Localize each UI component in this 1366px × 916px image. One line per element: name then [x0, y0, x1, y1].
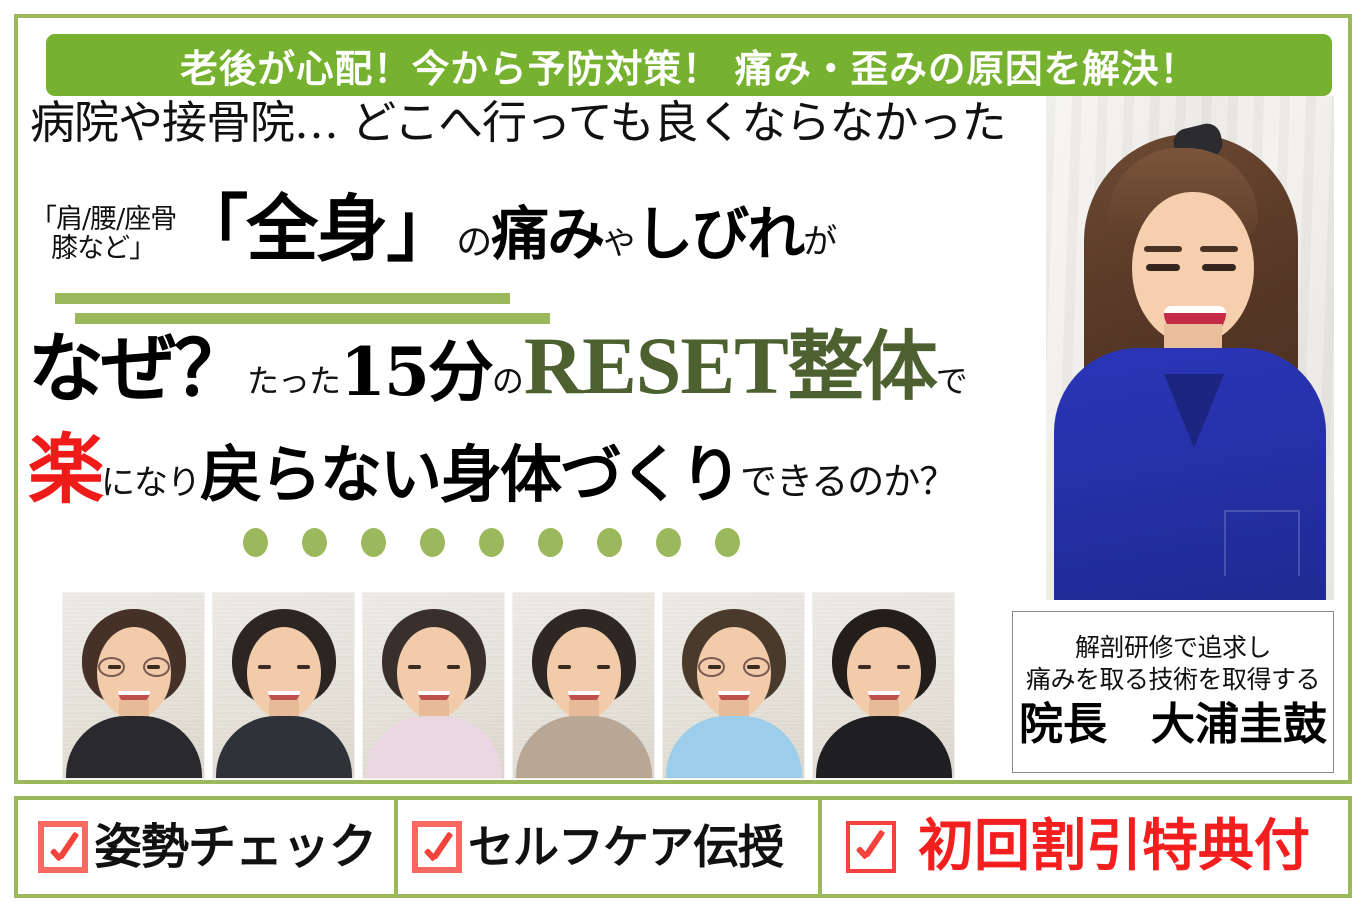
particle-ga: が: [803, 225, 837, 267]
benefit-label: 姿勢チェック: [94, 823, 376, 871]
director-credential-line-2: 痛みを取る技術を取得する: [1026, 664, 1320, 696]
tatta-text: たった: [247, 365, 340, 407]
benefits-checkbox-row: 姿勢チェック セルフケア伝授 初回割引特典付: [14, 796, 1352, 898]
dot-icon: [302, 528, 327, 557]
checkbox-checked-icon[interactable]: [412, 821, 462, 873]
patient-photo: [512, 592, 655, 779]
benefit-item-first-visit-discount[interactable]: 初回割引特典付: [822, 800, 1348, 894]
dot-icon: [420, 528, 445, 557]
ad-banner-root: 老後が心配！今から予防対策！ 痛み・歪みの原因を解決！ 病院や接骨院… どこへ行…: [0, 0, 1366, 916]
dot-icon: [715, 528, 740, 557]
dot-icon: [538, 528, 563, 557]
checkbox-checked-icon[interactable]: [846, 821, 896, 873]
naze-text: なぜ？: [28, 331, 247, 407]
dot-icon: [243, 528, 268, 557]
dekiru-noka-text: できるのか？: [740, 463, 955, 508]
director-credential-box: 解剖研修で追求し 痛みを取る技術を取得する 院長 大浦圭鼓: [1012, 611, 1334, 773]
headline-line-4: 楽 になり 戻らない身体づくり できるのか？: [28, 432, 955, 508]
benefit-label: 初回割引特典付: [918, 819, 1310, 875]
dot-icon: [479, 528, 504, 557]
benefit-item-posture-check[interactable]: 姿勢チェック: [18, 800, 398, 894]
green-dot-separator: [243, 528, 740, 557]
director-credential-line-1: 解剖研修で追求し: [1075, 632, 1271, 664]
benefit-label: セルフケア伝授: [468, 824, 783, 870]
patient-photo: [212, 592, 355, 779]
dot-icon: [361, 528, 386, 557]
body-parts-bottom: 膝など」: [51, 233, 155, 264]
benefit-item-selfcare[interactable]: セルフケア伝授: [398, 800, 822, 894]
patient-photo: [812, 592, 955, 779]
green-underline-bar-upper: [55, 293, 510, 304]
director-title-name: 院長 大浦圭鼓: [1019, 700, 1327, 751]
line3-particle-de: で: [936, 365, 968, 407]
raku-emphasis-red: 楽: [28, 432, 101, 508]
line3-particle-no: の: [492, 365, 524, 407]
patient-photo-strip: [62, 592, 955, 779]
shibire-emphasis: しびれ: [635, 205, 803, 267]
green-underline-bar-lower: [75, 313, 550, 324]
patient-photo: [362, 592, 505, 779]
particle-ya: や: [603, 227, 635, 267]
body-parts-stack: 「肩/腰/座骨 膝など」: [30, 206, 176, 267]
reset-brand-text: RESET: [524, 325, 788, 407]
checkbox-checked-icon[interactable]: [38, 821, 88, 873]
headline-line-1: 病院や接骨院… どこへ行っても良くならなかった: [30, 100, 1040, 145]
top-green-banner: 老後が心配！今から予防対策！ 痛み・歪みの原因を解決！: [46, 34, 1332, 96]
director-hero-photo: [1046, 96, 1334, 600]
dot-icon: [597, 528, 622, 557]
dot-icon: [656, 528, 681, 557]
ninari-text: になり: [101, 466, 200, 508]
modoranai-karada-text: 戻らない身体づくり: [200, 444, 740, 508]
top-banner-text: 老後が心配！今から予防対策！ 痛み・歪みの原因を解決！: [180, 38, 1198, 93]
fifteen-minutes-text: 15分: [340, 339, 492, 407]
particle-no: の: [456, 225, 491, 267]
headline-line-2: 「肩/腰/座骨 膝など」 「全身」 の 痛み や しびれ が: [30, 157, 1040, 267]
zenshin-emphasis: 「全身」: [176, 193, 456, 267]
headline-block: 病院や接骨院… どこへ行っても良くならなかった 「肩/腰/座骨 膝など」 「全身…: [30, 100, 1040, 267]
patient-photo: [62, 592, 205, 779]
body-parts-top: 「肩/腰/座骨: [30, 204, 176, 235]
itami-emphasis: 痛み: [491, 205, 603, 267]
headline-line-3: なぜ？ たった 15分 の RESET 整体 で: [28, 325, 968, 407]
seitai-brand-text: 整体: [788, 329, 936, 407]
patient-photo: [662, 592, 805, 779]
